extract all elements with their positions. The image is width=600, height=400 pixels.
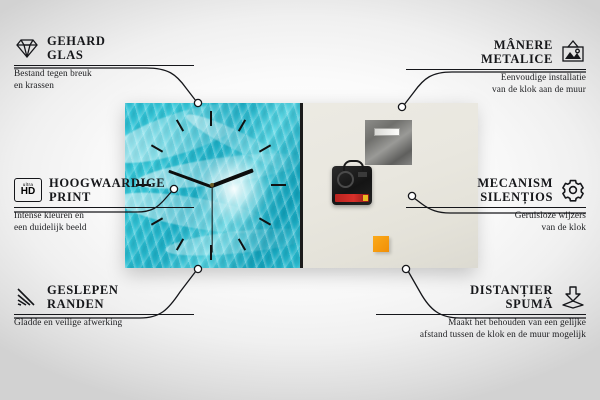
feature-hoogwaardige-print: ultra HD HOOGWAARDIGE PRINT Intense kleu…	[14, 176, 194, 234]
feature-divider	[376, 314, 586, 315]
feature-description: Geruisloze wijzers van de klok	[406, 211, 586, 234]
feature-title-line2: SILENȚIOS	[480, 190, 553, 204]
feature-mecanism-silentios: MECANISM SILENȚIOS Geruisloze wijzers va…	[406, 176, 586, 234]
feature-description: Bestand tegen breuk en krassen	[14, 69, 194, 92]
feature-title-line1: MÂNERE	[494, 38, 553, 52]
feature-desc-line2: afstand tussen de klok en de muur mogeli…	[420, 330, 586, 340]
feature-desc-line1: Maakt het behouden van een gelijke	[448, 318, 586, 328]
ultra-hd-large-text: HD	[21, 187, 35, 197]
feature-desc-line2: van de klok	[542, 223, 586, 233]
feature-title-line2: SPUMĂ	[506, 297, 553, 311]
feature-distantier-spuma: DISTANȚIER SPUMĂ Maakt het behouden van …	[376, 283, 586, 341]
feature-title-line2: METALICE	[481, 52, 553, 66]
feature-description: Gladde en veilige afwerking	[14, 318, 194, 330]
clock-tick	[271, 184, 286, 186]
feature-description: Maakt het behouden van een gelijke afsta…	[376, 318, 586, 341]
feature-manere-metalice: MÂNERE METALICE Eenvoudige installatie v…	[406, 38, 586, 96]
feature-gehard-glas: GEHARD GLAS Bestand tegen breuk en krass…	[14, 34, 194, 92]
feature-desc-line2: en krassen	[14, 81, 54, 91]
feature-description: Intense kleuren en een duidelijk beeld	[14, 211, 194, 234]
feature-desc-line1: Bestand tegen breuk	[14, 69, 92, 79]
feature-title-line1: GESLEPEN	[47, 283, 119, 297]
clock-second-hand	[211, 186, 212, 252]
framed-picture-icon	[560, 40, 586, 64]
feature-desc-line2: van de klok aan de muur	[492, 85, 586, 95]
feature-desc-line1: Eenvoudige installatie	[501, 73, 586, 83]
feature-geslepen-randen: GESLEPEN RANDEN Gladde en veilige afwerk…	[14, 283, 194, 330]
mechanism-dial	[337, 171, 354, 188]
mechanism-chip	[358, 172, 367, 177]
feature-desc-line1: Geruisloze wijzers	[515, 211, 586, 221]
hanger-slot	[374, 128, 400, 136]
feature-title-line1: DISTANȚIER	[470, 283, 553, 297]
feature-divider	[14, 314, 194, 315]
feature-title-line2: GLAS	[47, 48, 83, 62]
mechanism-hook	[343, 160, 364, 171]
feature-title-line1: GEHARD	[47, 34, 105, 48]
feature-desc-line1: Intense kleuren en	[14, 211, 84, 221]
ultra-hd-icon: ultra HD	[14, 178, 42, 202]
metal-hanger-plate	[365, 120, 412, 165]
foam-spacer	[373, 236, 389, 252]
feature-divider	[14, 65, 194, 66]
feature-title-line1: MECANISM	[477, 176, 553, 190]
clock-center-pin	[210, 183, 214, 187]
feature-title-line1: HOOGWAARDIGE	[49, 176, 165, 190]
quartz-mechanism-box	[332, 166, 372, 205]
clock-tick	[210, 111, 212, 126]
feature-description: Eenvoudige installatie van de klok aan d…	[406, 73, 586, 96]
gear-icon	[560, 178, 586, 202]
feature-divider	[406, 69, 586, 70]
feature-title-line2: PRINT	[49, 190, 91, 204]
feature-title-line2: RANDEN	[47, 297, 104, 311]
diamond-icon	[14, 36, 40, 60]
foam-spacer-icon	[560, 285, 586, 309]
aa-battery	[335, 194, 369, 202]
battery-cap	[363, 195, 368, 201]
beveled-edges-icon	[14, 285, 40, 309]
infographic-canvas: GEHARD GLAS Bestand tegen breuk en krass…	[0, 0, 600, 400]
feature-desc-line2: een duidelijk beeld	[14, 223, 87, 233]
feature-desc-line1: Gladde en veilige afwerking	[14, 318, 122, 328]
feature-divider	[14, 207, 194, 208]
feature-divider	[406, 207, 586, 208]
